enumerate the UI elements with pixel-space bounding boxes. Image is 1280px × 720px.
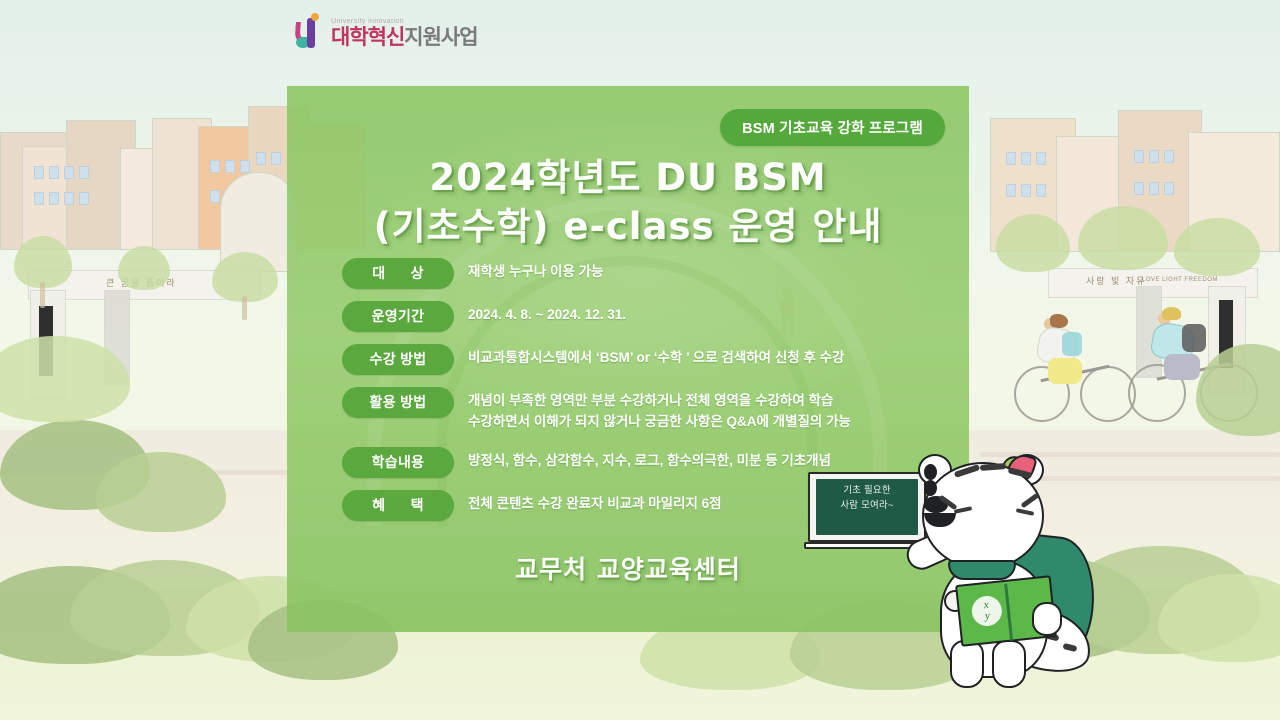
tree-trunk bbox=[40, 282, 45, 308]
bush bbox=[0, 336, 130, 422]
mascot-leg-left bbox=[950, 640, 984, 688]
gate-beam-left bbox=[28, 270, 260, 300]
bush bbox=[0, 420, 150, 510]
bicycle-wheel bbox=[1128, 364, 1186, 422]
gate-pillar-left-2 bbox=[104, 290, 130, 386]
building bbox=[1188, 132, 1280, 252]
info-row-value: 방정식, 함수, 삼각함수, 지수, 로그, 함수의극한, 미분 등 기초개념 bbox=[468, 447, 831, 471]
gate-pillar-sign-left bbox=[39, 306, 53, 376]
building bbox=[152, 118, 212, 250]
bush bbox=[1196, 344, 1280, 436]
book-spine bbox=[1004, 584, 1013, 641]
window-row bbox=[1134, 182, 1174, 195]
title-line-1: 2024학년도 DU BSM bbox=[287, 154, 969, 203]
window-row bbox=[1006, 184, 1046, 197]
tiger-mascot: x y bbox=[900, 440, 1120, 705]
window-row bbox=[256, 152, 281, 165]
cyclist-boy bbox=[1126, 296, 1276, 432]
building bbox=[990, 118, 1076, 252]
mascot-paw bbox=[1032, 602, 1062, 636]
bush bbox=[1158, 574, 1280, 662]
info-row-label: 수강 방법 bbox=[342, 344, 454, 375]
gate-text-left: 큰 꿈을 품어라 bbox=[106, 276, 177, 289]
title-line-2: (기초수학) e-class 운영 안내 bbox=[287, 203, 969, 252]
mascot-scarf bbox=[948, 560, 1016, 580]
bicycle-wheel bbox=[1080, 366, 1136, 422]
mascot-head bbox=[922, 462, 1044, 570]
tree bbox=[1078, 206, 1168, 270]
cyclist-girl bbox=[1010, 300, 1160, 430]
tree bbox=[1174, 218, 1260, 276]
info-row-label: 활용 방법 bbox=[342, 387, 454, 418]
tree bbox=[996, 214, 1070, 272]
gate-pillar-sign-right bbox=[1219, 300, 1233, 368]
mascot-eye-left bbox=[924, 464, 937, 480]
window-row bbox=[34, 166, 89, 179]
mascot-mouth bbox=[924, 513, 956, 527]
building bbox=[120, 148, 174, 250]
info-row: 대 상 재학생 누구나 이용 가능 bbox=[342, 258, 942, 289]
window-row bbox=[1006, 152, 1046, 165]
info-row-label: 혜 택 bbox=[342, 490, 454, 521]
bush bbox=[96, 452, 226, 532]
info-row-label: 학습내용 bbox=[342, 447, 454, 478]
road-stripe bbox=[0, 470, 300, 475]
info-row: 활용 방법 개념이 부족한 영역만 부분 수강하거나 전체 영역을 수강하여 학… bbox=[342, 387, 942, 433]
building bbox=[198, 126, 274, 250]
logo-korean-segment-a: 대학혁신 bbox=[331, 26, 404, 49]
building bbox=[0, 132, 92, 250]
book-fraction-badge: x y bbox=[970, 595, 1003, 628]
building bbox=[1118, 110, 1202, 252]
building bbox=[1056, 136, 1134, 252]
gate-beam-right bbox=[1048, 268, 1258, 298]
program-badge: BSM 기초교육 강화 프로그램 bbox=[720, 109, 945, 146]
poster-title: 2024학년도 DU BSM (기초수학) e-class 운영 안내 bbox=[287, 154, 969, 252]
info-row-value: 재학생 누구나 이용 가능 bbox=[468, 258, 603, 282]
tree bbox=[14, 236, 72, 288]
gate-text-right-en: LOVE LIGHT FREEDOM bbox=[1142, 277, 1218, 283]
bush bbox=[70, 560, 260, 656]
building bbox=[22, 146, 108, 250]
gate-pillar-right-2 bbox=[1136, 286, 1162, 378]
mascot-leg-right bbox=[992, 640, 1026, 688]
gate-text-right-kr: 사랑 빛 자유 bbox=[1086, 274, 1146, 287]
logo-korean-label: 대학혁신지원사업 bbox=[331, 27, 478, 48]
tree bbox=[118, 246, 170, 290]
gate-pillar-left bbox=[30, 290, 66, 400]
bicycle-wheel bbox=[1014, 366, 1070, 422]
program-logo: University innovation 대학혁신지원사업 bbox=[295, 14, 478, 48]
tree-trunk bbox=[242, 296, 247, 320]
logo-korean-segment-b: 지원사업 bbox=[404, 26, 477, 49]
info-row-label: 대 상 bbox=[342, 258, 454, 289]
window-row bbox=[34, 192, 89, 205]
info-row-value: 개념이 부족한 영역만 부분 수강하거나 전체 영역을 수강하여 학습 수강하면… bbox=[468, 387, 851, 433]
building bbox=[66, 120, 136, 250]
poster-canvas: 큰 꿈을 품어라 사랑 빛 자유 LOVE LIGHT FREEDOM bbox=[0, 0, 1280, 720]
info-row-value: 2024. 4. 8. ~ 2024. 12. 31. bbox=[468, 301, 626, 325]
info-row-label: 운영기간 bbox=[342, 301, 454, 332]
window-row bbox=[1134, 150, 1174, 163]
tree bbox=[212, 252, 278, 302]
logo-english-label: University innovation bbox=[331, 18, 478, 25]
bush bbox=[0, 566, 170, 664]
info-row-value: 비교과통합시스템에서 ‘BSM’ or ‘수학 ’ 으로 검색하여 신청 후 수… bbox=[468, 344, 844, 368]
info-row: 운영기간 2024. 4. 8. ~ 2024. 12. 31. bbox=[342, 301, 942, 332]
info-row: 수강 방법 비교과통합시스템에서 ‘BSM’ or ‘수학 ’ 으로 검색하여 … bbox=[342, 344, 942, 375]
mascot-eye-right bbox=[924, 480, 937, 496]
window-row bbox=[210, 190, 250, 203]
organization-name: 교무처 교양교육센터 bbox=[287, 550, 969, 586]
logo-text-block: University innovation 대학혁신지원사업 bbox=[331, 18, 478, 48]
window-row bbox=[210, 160, 250, 173]
info-row-value: 전체 콘텐츠 수강 완료자 비교과 마일리지 6점 bbox=[468, 490, 722, 514]
book-fraction-denominator: y bbox=[984, 611, 990, 622]
university-innovation-logo-icon bbox=[295, 14, 325, 48]
gate-pillar-right bbox=[1208, 286, 1246, 394]
bicycle-wheel bbox=[1200, 364, 1258, 422]
